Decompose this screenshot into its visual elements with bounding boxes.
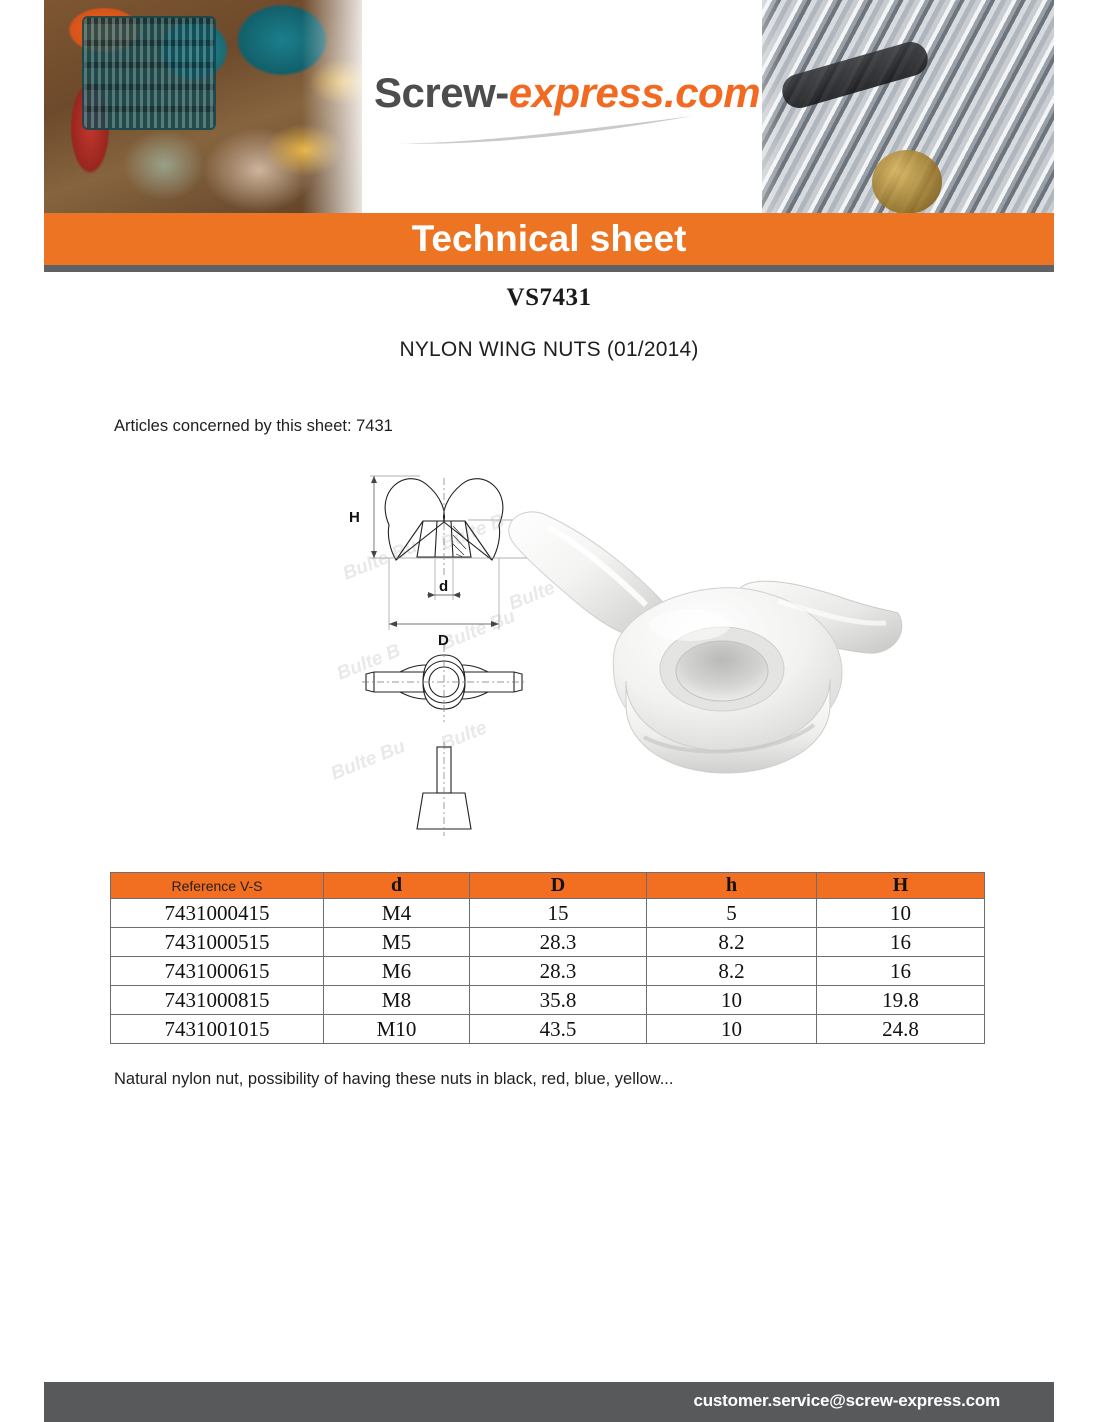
cell-D: 28.3: [470, 957, 647, 986]
screws-pile-photo: [762, 0, 1054, 213]
table-header-row: Reference V-S d D h H: [111, 873, 985, 899]
specification-table: Reference V-S d D h H 7431000415 M4 15 5…: [110, 872, 985, 1044]
cell-D: 35.8: [470, 986, 647, 1015]
cell-H: 16: [817, 928, 985, 957]
footer-email[interactable]: customer.service@screw-express.com: [693, 1391, 1000, 1411]
dimension-label-H: H: [349, 509, 360, 526]
table-row: 7431000415 M4 15 5 10: [111, 899, 985, 928]
table-row: 7431000515 M5 28.3 8.2 16: [111, 928, 985, 957]
cell-d: M4: [324, 899, 470, 928]
cell-h: 10: [647, 1015, 817, 1044]
banner-title: Technical sheet: [412, 218, 687, 259]
articles-concerned-line: Articles concerned by this sheet: 7431: [114, 417, 1054, 436]
document-reference: VS7431: [44, 284, 1054, 312]
cell-H: 16: [817, 957, 985, 986]
cell-h: 8.2: [647, 957, 817, 986]
drawing-watermark: Bulte: [438, 717, 490, 754]
cell-h: 5: [647, 899, 817, 928]
cell-d: M8: [324, 986, 470, 1015]
logo-text-accent: express.com: [509, 69, 760, 116]
cell-reference: 7431000415: [111, 899, 324, 928]
logo-swoosh-icon: [392, 116, 712, 146]
page-footer: customer.service@screw-express.com: [44, 1382, 1054, 1422]
header-divider: [44, 265, 1054, 272]
cell-d: M5: [324, 928, 470, 957]
dimension-label-d: d: [439, 578, 448, 595]
cell-D: 43.5: [470, 1015, 647, 1044]
table-row: 7431000815 M8 35.8 10 19.8: [111, 986, 985, 1015]
technical-drawing: Bulte Bu Bulte B Bulte B Bulte Bu Bulte …: [44, 450, 1054, 850]
logo-text-primary: Screw-: [374, 69, 509, 116]
drawing-watermark: Bulte B: [334, 640, 404, 684]
cell-d: M6: [324, 957, 470, 986]
column-header-reference: Reference V-S: [111, 873, 324, 899]
column-header-h: h: [647, 873, 817, 899]
cell-H: 19.8: [817, 986, 985, 1015]
drawing-watermark: Bulte Bu: [340, 536, 421, 585]
cell-reference: 7431000515: [111, 928, 324, 957]
cell-reference: 7431001015: [111, 1015, 324, 1044]
cell-d: M10: [324, 1015, 470, 1044]
cell-reference: 7431000615: [111, 957, 324, 986]
material-note: Natural nylon nut, possibility of having…: [114, 1070, 1054, 1089]
drawing-watermark: Bulte Bu: [328, 736, 409, 785]
cell-H: 10: [817, 899, 985, 928]
product-photo: [494, 505, 914, 835]
cell-reference: 7431000815: [111, 986, 324, 1015]
cell-h: 10: [647, 986, 817, 1015]
column-header-D: D: [470, 873, 647, 899]
cell-D: 15: [470, 899, 647, 928]
brand-logo[interactable]: Screw-express.com: [374, 72, 734, 114]
specification-table-wrapper: Reference V-S d D h H 7431000415 M4 15 5…: [110, 872, 984, 1044]
column-header-d: d: [324, 873, 470, 899]
page-title: NYLON WING NUTS (01/2014): [44, 338, 1054, 362]
cell-H: 24.8: [817, 1015, 985, 1044]
dimension-label-D: D: [438, 632, 449, 649]
side-view: [417, 742, 471, 836]
cell-h: 8.2: [647, 928, 817, 957]
page-header: Screw-express.com: [44, 0, 1054, 213]
table-row: 7431000615 M6 28.3 8.2 16: [111, 957, 985, 986]
document-page: Screw-express.com Technical sheet VS7431…: [44, 0, 1054, 1422]
table-row: 7431001015 M10 43.5 10 24.8: [111, 1015, 985, 1044]
cell-D: 28.3: [470, 928, 647, 957]
technical-sheet-banner: Technical sheet: [44, 213, 1054, 265]
column-header-H: H: [817, 873, 985, 899]
